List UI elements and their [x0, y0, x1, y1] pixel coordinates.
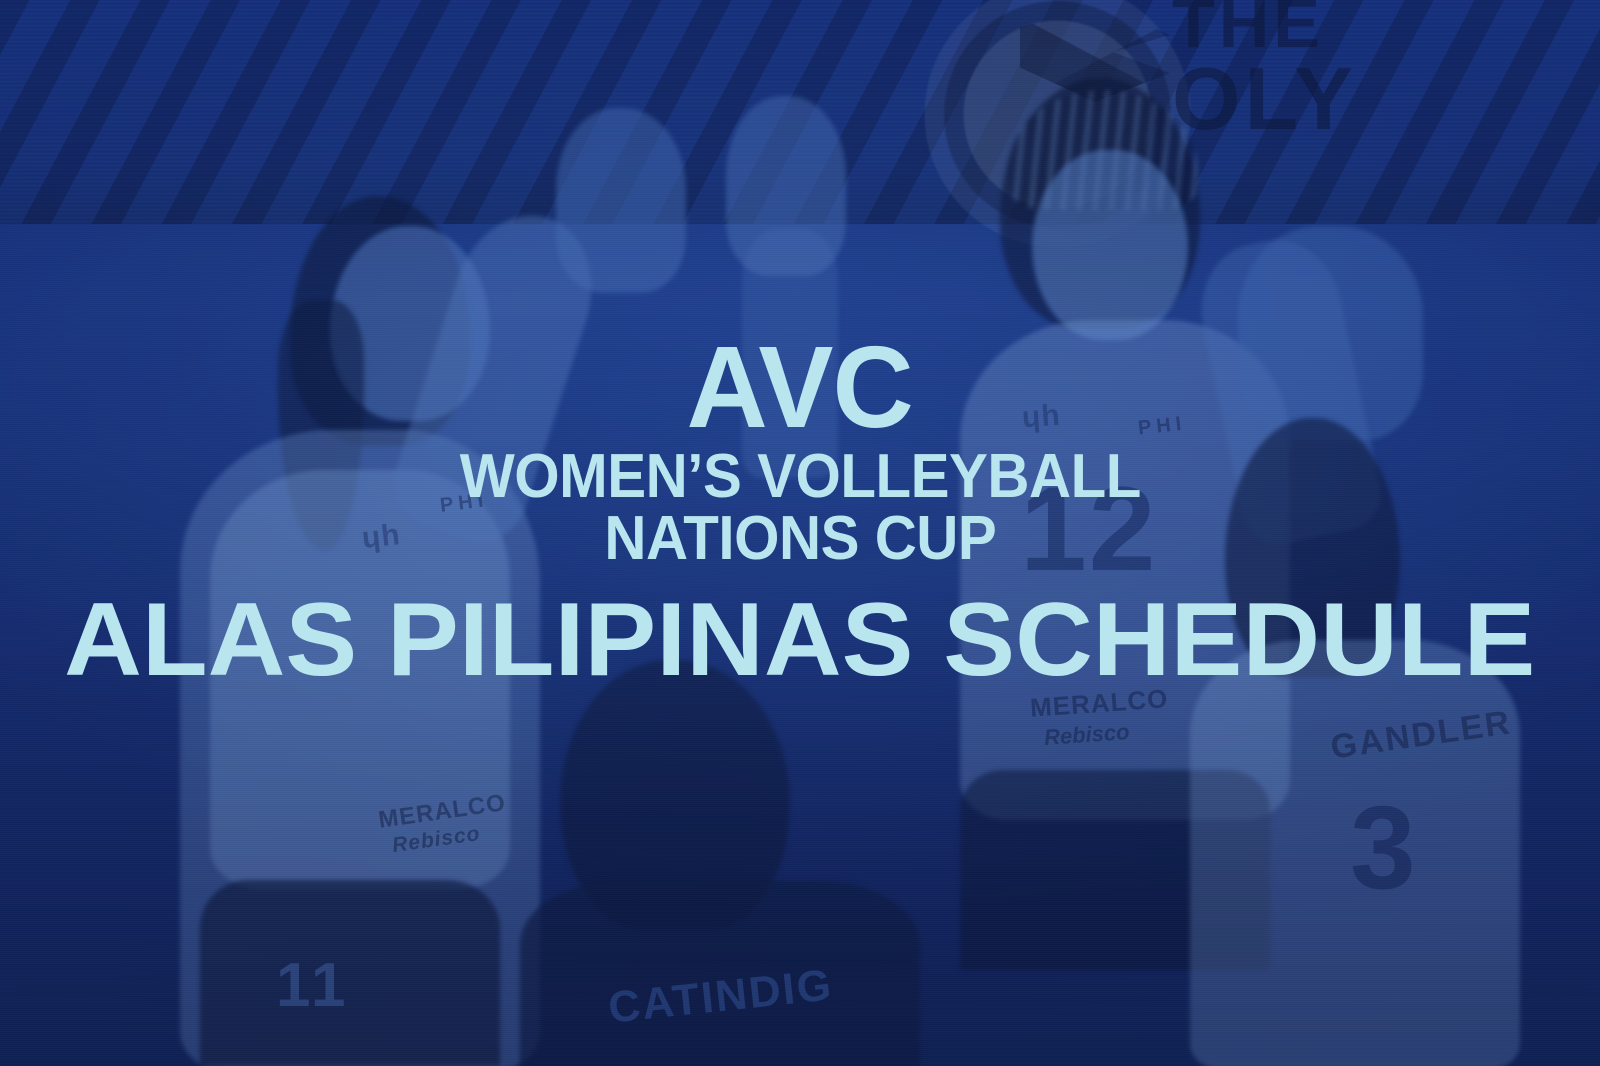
duotone-screen-lift [0, 0, 1600, 1066]
poster-canvas: THE OLY PHI PHI MERALCO Rebisco [0, 0, 1600, 1066]
duotone-photo-backdrop: THE OLY PHI PHI MERALCO Rebisco [0, 0, 1600, 1066]
